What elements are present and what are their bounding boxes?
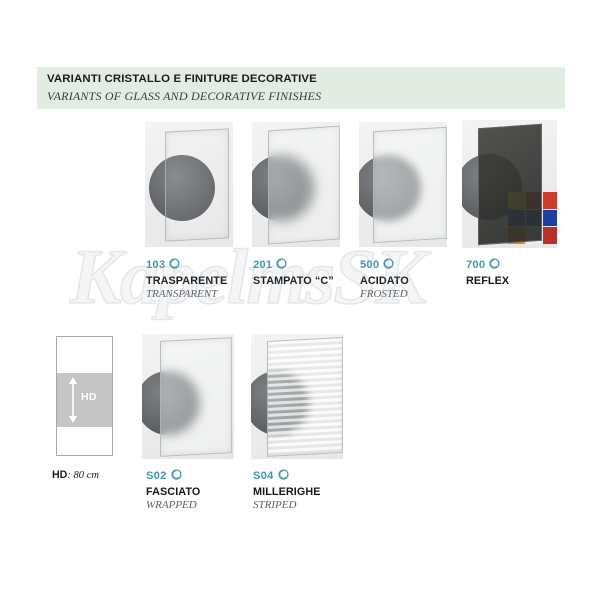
hd-caption: HD: 80 cm [52,469,99,481]
page-title: VARIANTI CRISTALLO E FINITURE DECORATIVE [47,73,317,85]
glass-pane [267,337,343,457]
code-row: S04 [253,469,321,483]
page-subtitle: VARIANTS OF GLASS AND DECORATIVE FINISHE… [47,89,321,104]
glass-pane [165,128,229,241]
sample-image-millerighe [251,334,343,459]
glass-pane [268,125,340,244]
finish-code: 500 [360,259,379,271]
finish-code: 201 [253,259,272,271]
glass-pane-tinted [478,124,542,245]
finish-name: TRASPARENTE [146,275,227,287]
finish-translation: WRAPPED [146,499,200,511]
hd-caption-key: HD [52,469,67,481]
glass-swatch-icon [489,256,500,274]
finish-code: 103 [146,259,165,271]
finish-code: S04 [253,470,274,482]
sample-image-trasparente [145,122,233,247]
code-row: 201 [253,258,334,272]
glass-pane [373,127,447,244]
caption-millerighe: S04 MILLERIGHE STRIPED [253,469,321,511]
glass-swatch-icon [383,256,394,274]
finish-name: MILLERIGHE [253,486,321,498]
finish-translation: TRANSPARENT [146,288,227,300]
finish-translation: FROSTED [360,288,409,300]
finish-code: 700 [466,259,485,271]
finish-name: STAMPATO “C” [253,275,334,287]
photo-background [145,122,233,247]
caption-reflex: 700 REFLEX [466,258,509,288]
photo-background [359,122,447,247]
hd-caption-value: : 80 cm [67,470,99,481]
hd-double-arrow-icon [67,377,79,423]
sample-image-stampato-c [252,122,340,247]
caption-fasciato: S02 FASCIATO WRAPPED [146,469,200,511]
color-swatch [543,192,557,209]
sample-image-reflex [462,120,557,248]
finish-name: REFLEX [466,275,509,287]
code-row: 103 [146,258,227,272]
code-row: S02 [146,469,200,483]
caption-acidato: 500 ACIDATO FROSTED [360,258,409,300]
section-header-band: VARIANTI CRISTALLO E FINITURE DECORATIVE… [37,67,565,109]
code-row: 700 [466,258,509,272]
glass-swatch-icon [169,256,180,274]
color-swatch [543,227,557,244]
hd-label: HD [81,391,97,403]
sample-image-acidato [359,122,447,247]
caption-trasparente: 103 TRASPARENTE TRANSPARENT [146,258,227,300]
photo-background [252,122,340,247]
finish-name: FASCIATO [146,486,200,498]
color-swatch [543,210,557,227]
finish-code: S02 [146,470,167,482]
code-row: 500 [360,258,409,272]
glass-pane [160,337,232,457]
glass-swatch-icon [171,467,182,485]
finish-translation: STRIPED [253,499,321,511]
finish-name: ACIDATO [360,275,409,287]
hd-band: HD [57,373,112,427]
photo-background [462,120,557,248]
stripe-texture [268,338,342,456]
photo-background [251,334,343,459]
glass-finishes-catalog-page: VARIANTI CRISTALLO E FINITURE DECORATIVE… [0,0,600,600]
sample-image-fasciato [142,334,234,459]
photo-background [142,334,234,459]
hd-dimension-diagram: HD [56,336,113,456]
glass-swatch-icon [278,467,289,485]
glass-swatch-icon [276,256,287,274]
caption-stampato-c: 201 STAMPATO “C” [253,258,334,288]
